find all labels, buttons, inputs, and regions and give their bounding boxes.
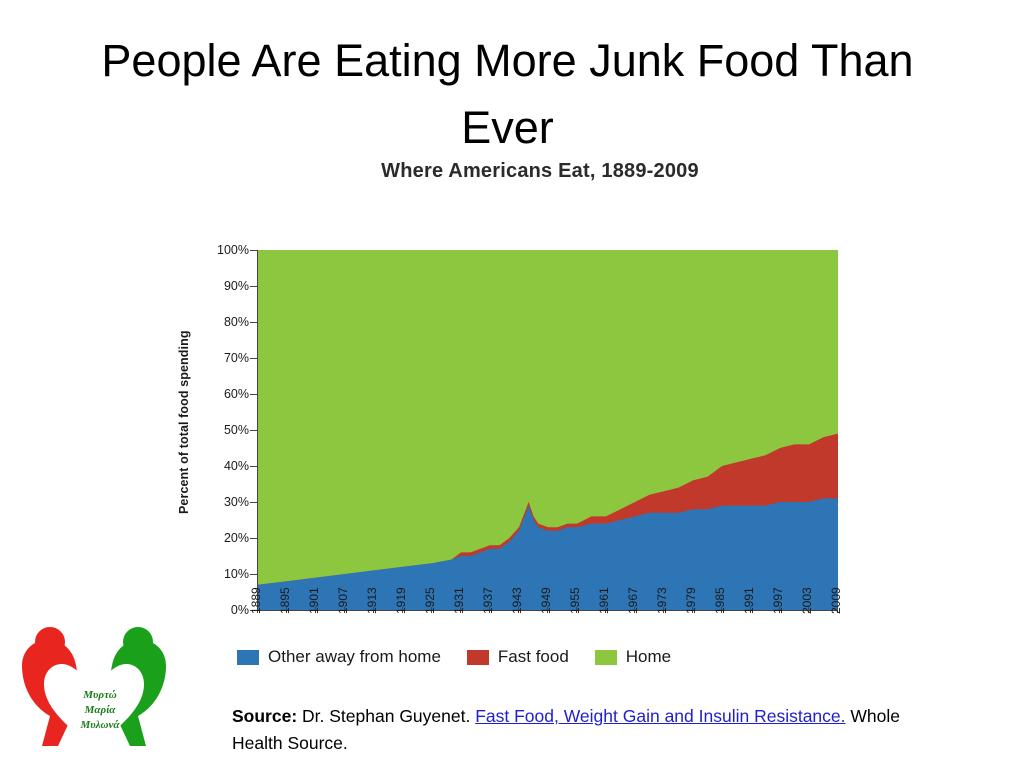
- y-tick-label: 100%: [217, 243, 249, 257]
- x-tick-label: 1955: [568, 587, 582, 614]
- y-axis-label: Percent of total food spending: [177, 302, 195, 542]
- logo-text-line2: Μαρία: [52, 703, 148, 718]
- x-tick-label: 1937: [481, 587, 495, 614]
- y-tickmark: [250, 430, 257, 431]
- y-tickmark: [250, 286, 257, 287]
- stacked-area-plot: [257, 250, 838, 611]
- logo: Μυρτώ Μαρία Μυλωνά: [14, 620, 174, 755]
- x-tick-label: 1931: [452, 587, 466, 614]
- y-tickmark: [250, 466, 257, 467]
- legend-item-other-away-from-home: Other away from home: [237, 647, 441, 667]
- y-axis-tickmarks: [249, 250, 257, 610]
- x-tick-label: 1967: [626, 587, 640, 614]
- x-tick-label: 1913: [365, 587, 379, 614]
- source-link[interactable]: Fast Food, Weight Gain and Insulin Resis…: [475, 706, 845, 726]
- x-tick-label: 1889: [249, 587, 263, 614]
- source-label: Source:: [232, 706, 297, 726]
- x-tick-label: 1973: [655, 587, 669, 614]
- logo-text: Μυρτώ Μαρία Μυλωνά: [52, 688, 148, 733]
- legend-item-home: Home: [595, 647, 671, 667]
- x-tick-label: 2009: [829, 587, 843, 614]
- legend-label: Other away from home: [268, 647, 441, 667]
- source-author: Dr. Stephan Guyenet.: [302, 706, 470, 726]
- legend-item-fast-food: Fast food: [467, 647, 569, 667]
- y-tickmark: [250, 538, 257, 539]
- legend-swatch-blue: [237, 650, 259, 665]
- area-chart-svg: [258, 250, 838, 610]
- chart-legend: Other away from home Fast food Home: [237, 647, 877, 667]
- chart-title: Where Americans Eat, 1889-2009: [205, 160, 875, 183]
- y-tick-label: 40%: [224, 459, 249, 473]
- logo-text-line3: Μυλωνά: [52, 718, 148, 733]
- x-tick-label: 1919: [394, 587, 408, 614]
- y-tick-label: 30%: [224, 495, 249, 509]
- x-tick-label: 1949: [539, 587, 553, 614]
- y-tickmark: [250, 322, 257, 323]
- x-tick-label: 1925: [423, 587, 437, 614]
- x-tick-label: 2003: [800, 587, 814, 614]
- y-tick-label: 20%: [224, 531, 249, 545]
- y-tick-label: 90%: [224, 279, 249, 293]
- y-tick-label: 0%: [231, 603, 249, 617]
- x-tick-label: 1979: [684, 587, 698, 614]
- y-tickmark: [250, 394, 257, 395]
- y-tick-label: 70%: [224, 351, 249, 365]
- logo-text-line1: Μυρτώ: [52, 688, 148, 703]
- legend-swatch-green: [595, 650, 617, 665]
- legend-label: Home: [626, 647, 671, 667]
- page-title: People Are Eating More Junk Food Than Ev…: [60, 28, 955, 161]
- y-tickmark: [250, 574, 257, 575]
- y-tickmark: [250, 502, 257, 503]
- x-tick-label: 1901: [307, 587, 321, 614]
- y-tick-label: 10%: [224, 567, 249, 581]
- x-tick-label: 1895: [278, 587, 292, 614]
- y-axis-ticks: 100% 90% 80% 70% 60% 50% 40% 30% 20% 10%…: [197, 250, 255, 610]
- legend-swatch-red: [467, 650, 489, 665]
- legend-label: Fast food: [498, 647, 569, 667]
- y-tick-label: 80%: [224, 315, 249, 329]
- chart-container: Where Americans Eat, 1889-2009 Percent o…: [175, 160, 875, 680]
- y-tickmark: [250, 358, 257, 359]
- plot-area: Percent of total food spending 100% 90% …: [175, 202, 875, 642]
- y-tick-label: 50%: [224, 423, 249, 437]
- x-tick-label: 1961: [597, 587, 611, 614]
- source-citation: Source: Dr. Stephan Guyenet. Fast Food, …: [232, 703, 932, 756]
- x-tick-label: 1991: [742, 587, 756, 614]
- x-tick-label: 1943: [510, 587, 524, 614]
- y-tick-label: 60%: [224, 387, 249, 401]
- y-tickmark: [250, 250, 257, 251]
- x-tick-label: 1997: [771, 587, 785, 614]
- x-tick-label: 1985: [713, 587, 727, 614]
- x-tick-label: 1907: [336, 587, 350, 614]
